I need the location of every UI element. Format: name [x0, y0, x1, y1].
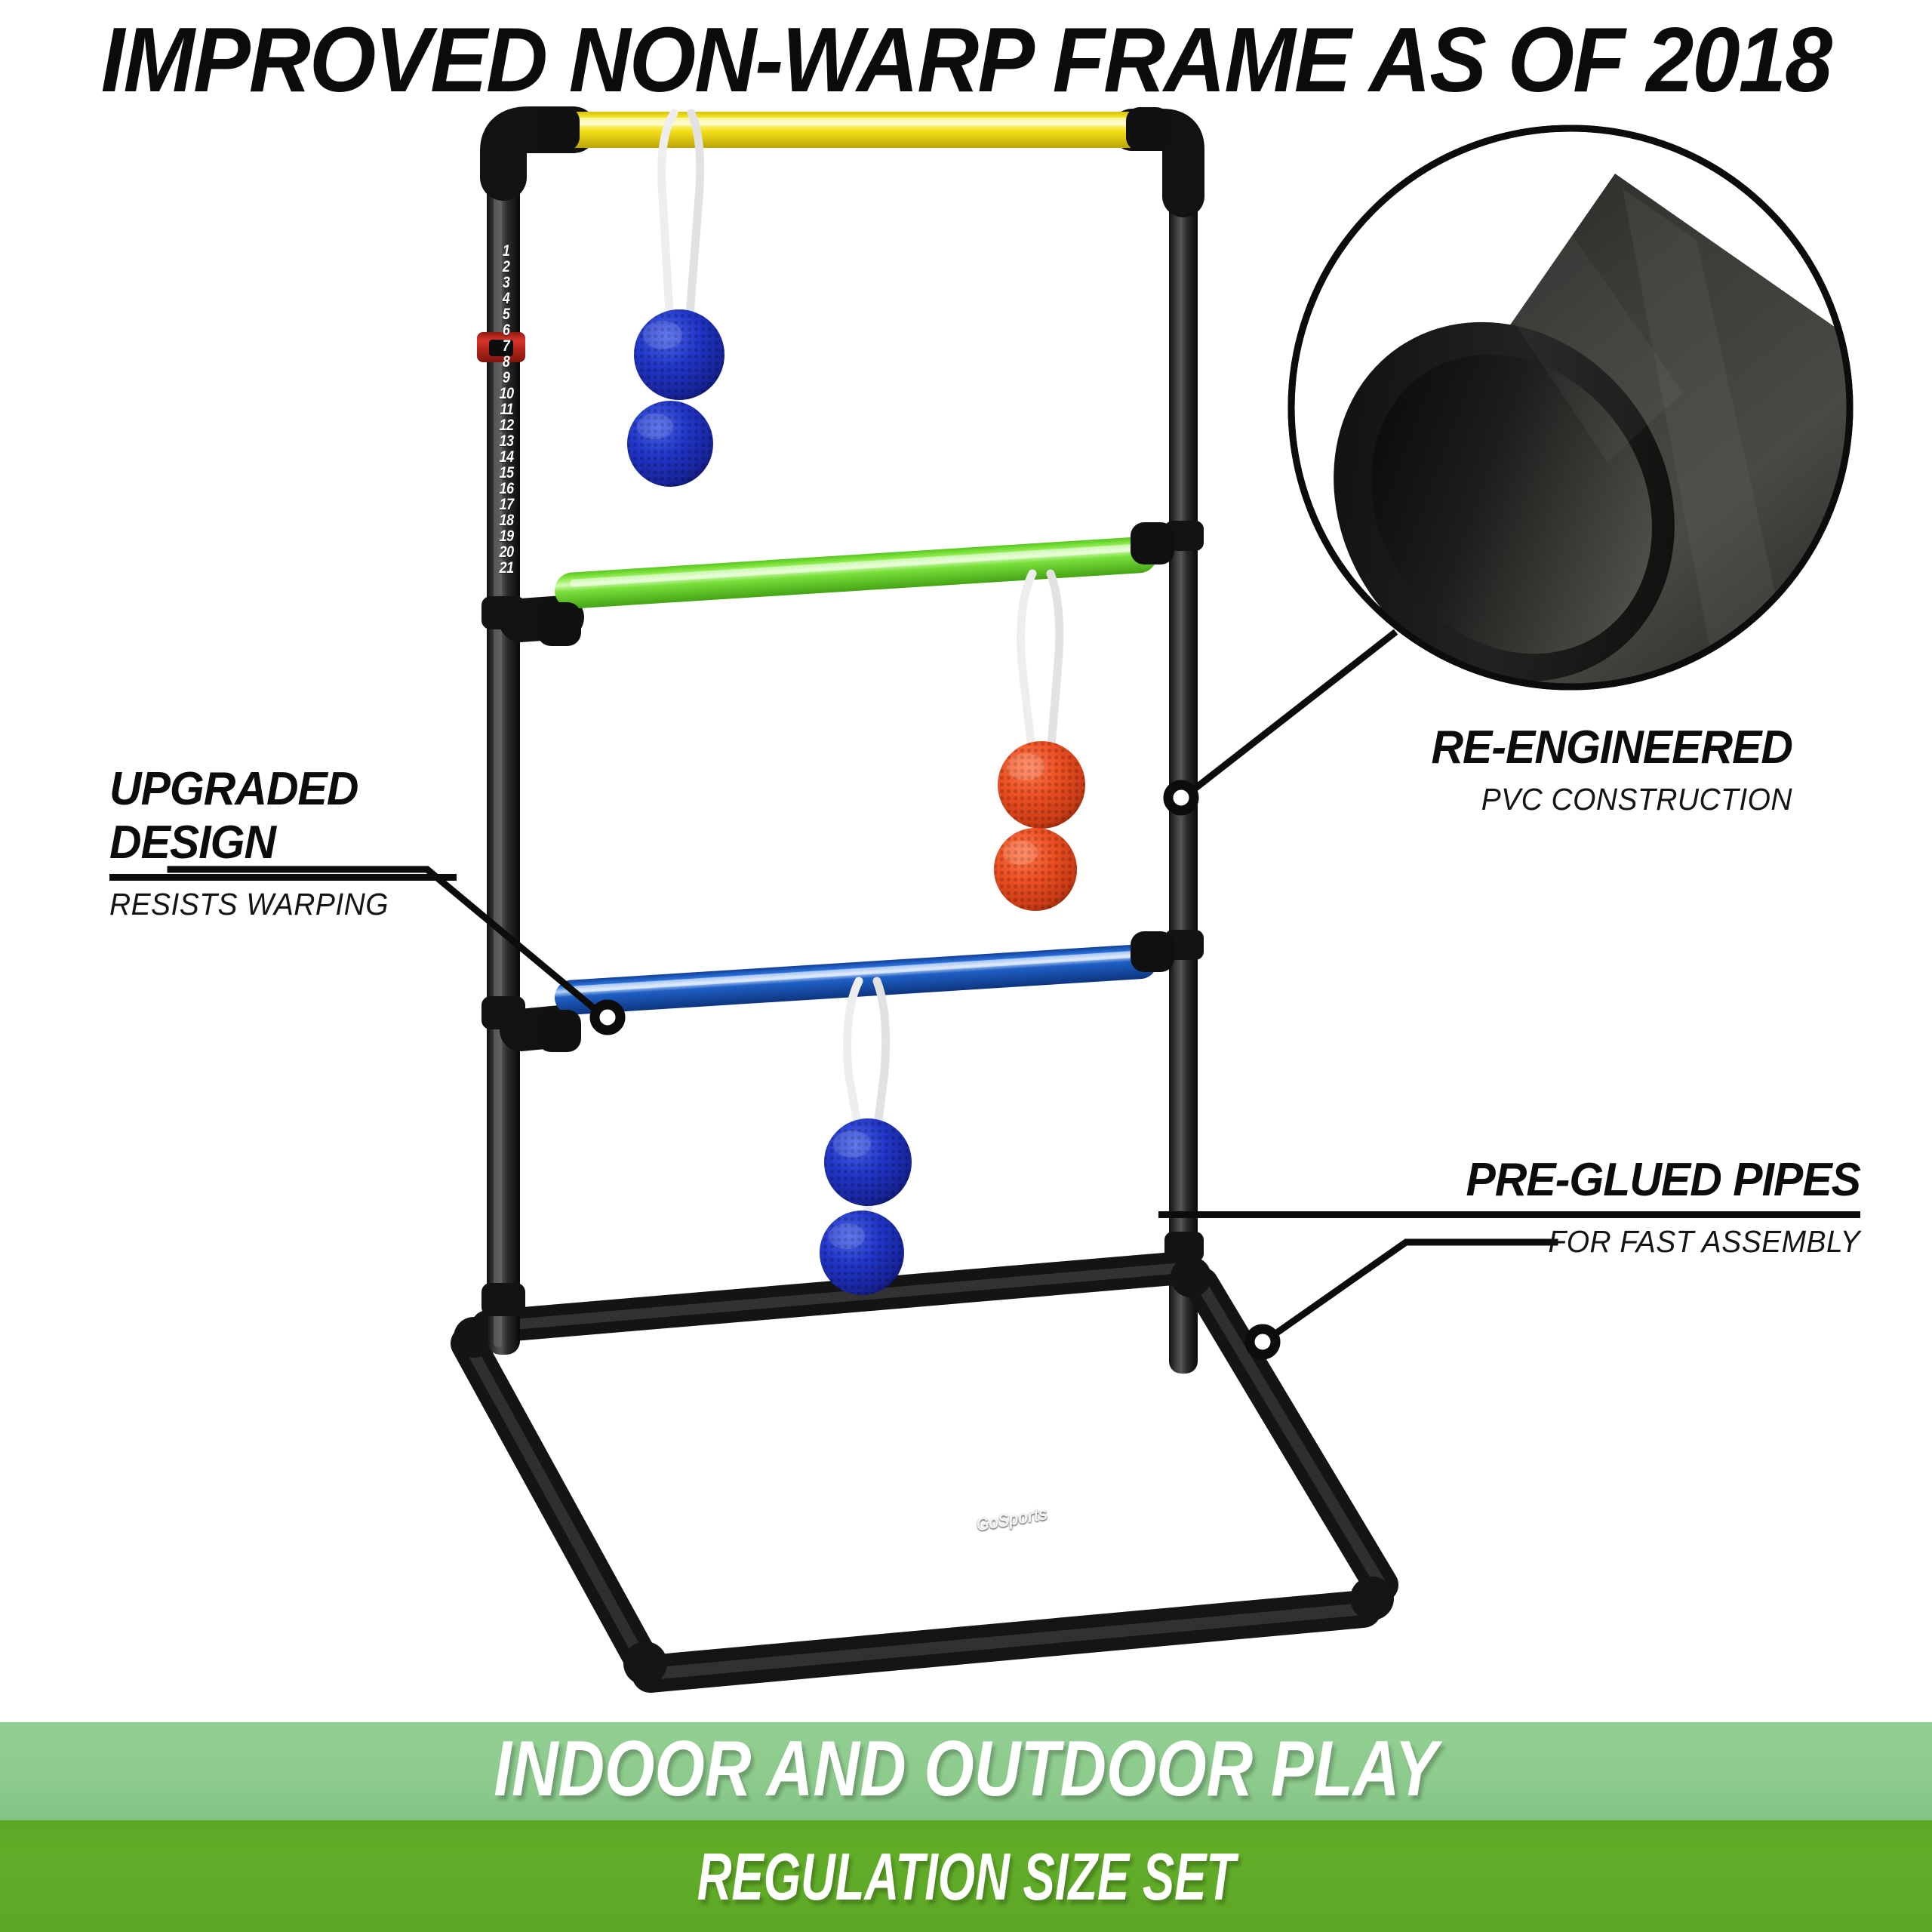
banner-primary: INDOOR AND OUTDOOR PLAY: [0, 1722, 1932, 1820]
middle-rung: [553, 536, 1158, 610]
ladder-toss-frame: [454, 107, 1394, 1685]
callout-title-line1: PRE-GLUED PIPES: [1194, 1153, 1861, 1207]
callout-upgraded-design: UPGRADED DESIGN RESISTS WARPING: [109, 762, 457, 922]
callout-subtitle: RESISTS WARPING: [109, 887, 439, 922]
callout-title-line2: DESIGN: [109, 816, 439, 869]
top-rung: [555, 112, 1151, 148]
callout-subtitle: PVC CONSTRUCTION: [1147, 782, 1792, 817]
base-elbow-front-left: [623, 1641, 667, 1685]
left-post-collar-base: [481, 1283, 525, 1316]
marker-pre-glued: [1250, 1329, 1275, 1355]
bola-blue-upper: [627, 113, 724, 487]
bola-orange: [994, 574, 1085, 911]
base-elbow-rear-right: [1171, 1257, 1211, 1297]
callout-rule: [109, 874, 457, 881]
base-elbow-front-right: [1350, 1577, 1394, 1620]
callout-title-line1: UPGRADED: [109, 762, 439, 816]
banner-secondary-text: REGULATION SIZE SET: [697, 1838, 1235, 1915]
bola-blue-lower: [820, 981, 912, 1295]
banner-primary-text: INDOOR AND OUTDOOR PLAY: [494, 1724, 1438, 1814]
callout-pre-glued-pipes: PRE-GLUED PIPES FOR FAST ASSEMBLY: [1158, 1153, 1860, 1260]
pvc-magnifier: [1265, 128, 1932, 811]
product-illustration: [0, 0, 1932, 1932]
callout-re-engineered: RE-ENGINEERED PVC CONSTRUCTION: [1113, 721, 1792, 817]
callout-title-line1: RE-ENGINEERED: [1147, 721, 1792, 774]
callout-rule: [1158, 1211, 1860, 1218]
banner-secondary: REGULATION SIZE SET: [0, 1820, 1932, 1932]
callout-subtitle: FOR FAST ASSEMBLY: [1194, 1224, 1861, 1260]
infographic-canvas: IMPROVED NON-WARP FRAME AS OF 2018: [0, 0, 1932, 1932]
marker-upgraded-design: [595, 1004, 620, 1030]
